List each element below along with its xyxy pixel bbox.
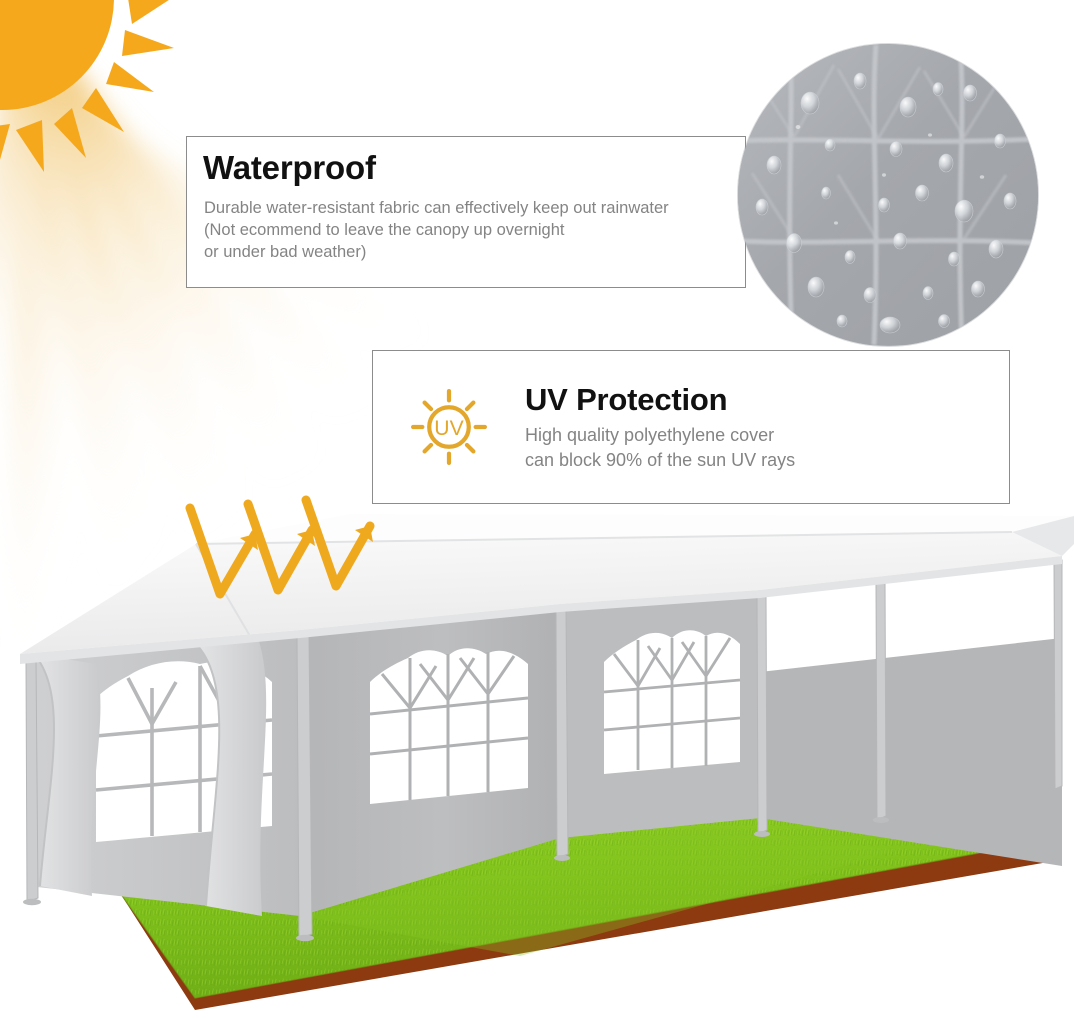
uv-sun-icon: UV — [373, 381, 525, 473]
tent-wall-section-2 — [560, 592, 760, 838]
uv-icon-label: UV — [434, 417, 464, 440]
tent-end-wall-left — [28, 632, 300, 916]
waterproof-body: Durable water-resistant fabric can effec… — [204, 197, 669, 263]
front-wall-window-2 — [604, 630, 740, 774]
waterproof-title: Waterproof — [203, 149, 376, 187]
uv-body: High quality polyethylene cover can bloc… — [525, 423, 999, 471]
front-wall-window-1 — [370, 648, 528, 804]
waterproof-fabric-droplets-photo — [738, 44, 1038, 346]
sun-burst-icon — [0, 0, 212, 208]
feature-card-uv-protection: UV UV Protection High quality polyethyle… — [372, 350, 1010, 504]
feature-card-waterproof: Waterproof Durable water-resistant fabri… — [186, 136, 746, 288]
product-feature-canvas: Waterproof Durable water-resistant fabri… — [0, 0, 1074, 1018]
party-tent-canopy-illustration — [0, 486, 1074, 1018]
uv-title: UV Protection — [525, 382, 999, 418]
